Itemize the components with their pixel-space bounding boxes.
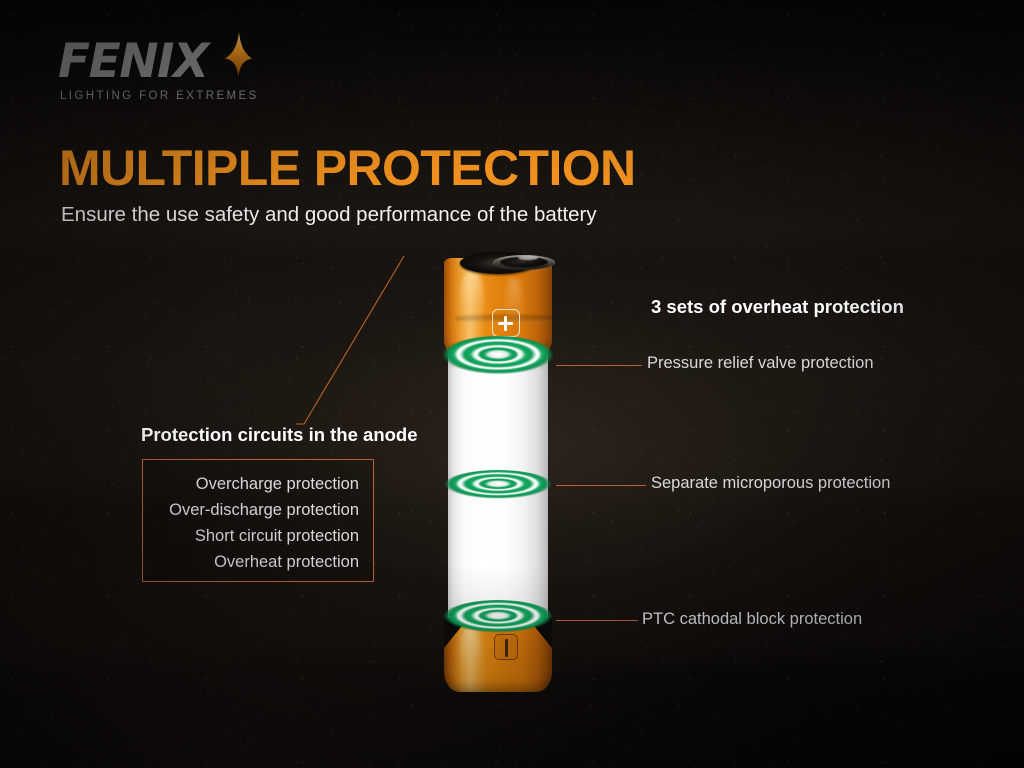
label-pressure-relief-valve: Pressure relief valve protection <box>647 354 874 373</box>
logo-tagline: LIGHTING FOR EXTREMES <box>60 90 259 102</box>
protection-ring-microporous <box>444 470 552 500</box>
list-item: Short circuit protection <box>195 523 359 549</box>
plus-icon <box>492 309 520 337</box>
label-separate-microporous: Separate microporous protection <box>651 474 890 493</box>
infographic-canvas: FENIX LIGHTING FOR EXTREMES MULTIPLE PRO… <box>0 0 1024 768</box>
list-item: Overheat protection <box>214 549 359 575</box>
overheat-callout-heading: 3 sets of overheat protection <box>651 296 904 318</box>
list-item: Overcharge protection <box>196 471 359 497</box>
list-item: Over-discharge protection <box>169 497 359 523</box>
anode-protection-list: Overcharge protection Over-discharge pro… <box>142 459 374 582</box>
battery-illustration <box>434 252 562 692</box>
minus-icon <box>494 634 518 660</box>
logo-wordmark: FENIX <box>58 38 308 85</box>
page-title: MULTIPLE PROTECTION <box>59 142 636 194</box>
battery-cap-highlight <box>460 272 484 334</box>
anode-leader-line <box>296 252 406 428</box>
protection-ring-ptc <box>443 600 553 634</box>
star-spark-icon <box>218 32 260 76</box>
leader-line-ptc <box>556 620 638 621</box>
terminal-highlight <box>518 256 538 260</box>
label-ptc-cathodal-block: PTC cathodal block protection <box>642 610 862 629</box>
leader-line-microporous <box>556 485 646 486</box>
page-subtitle: Ensure the use safety and good performan… <box>61 203 597 227</box>
leader-line-pressure-valve <box>556 365 642 366</box>
protection-ring-pressure-valve <box>442 336 554 376</box>
fenix-logo: FENIX LIGHTING FOR EXTREMES <box>58 38 308 104</box>
battery-base-highlight <box>460 628 480 672</box>
battery-positive-terminal-icon <box>460 252 536 274</box>
